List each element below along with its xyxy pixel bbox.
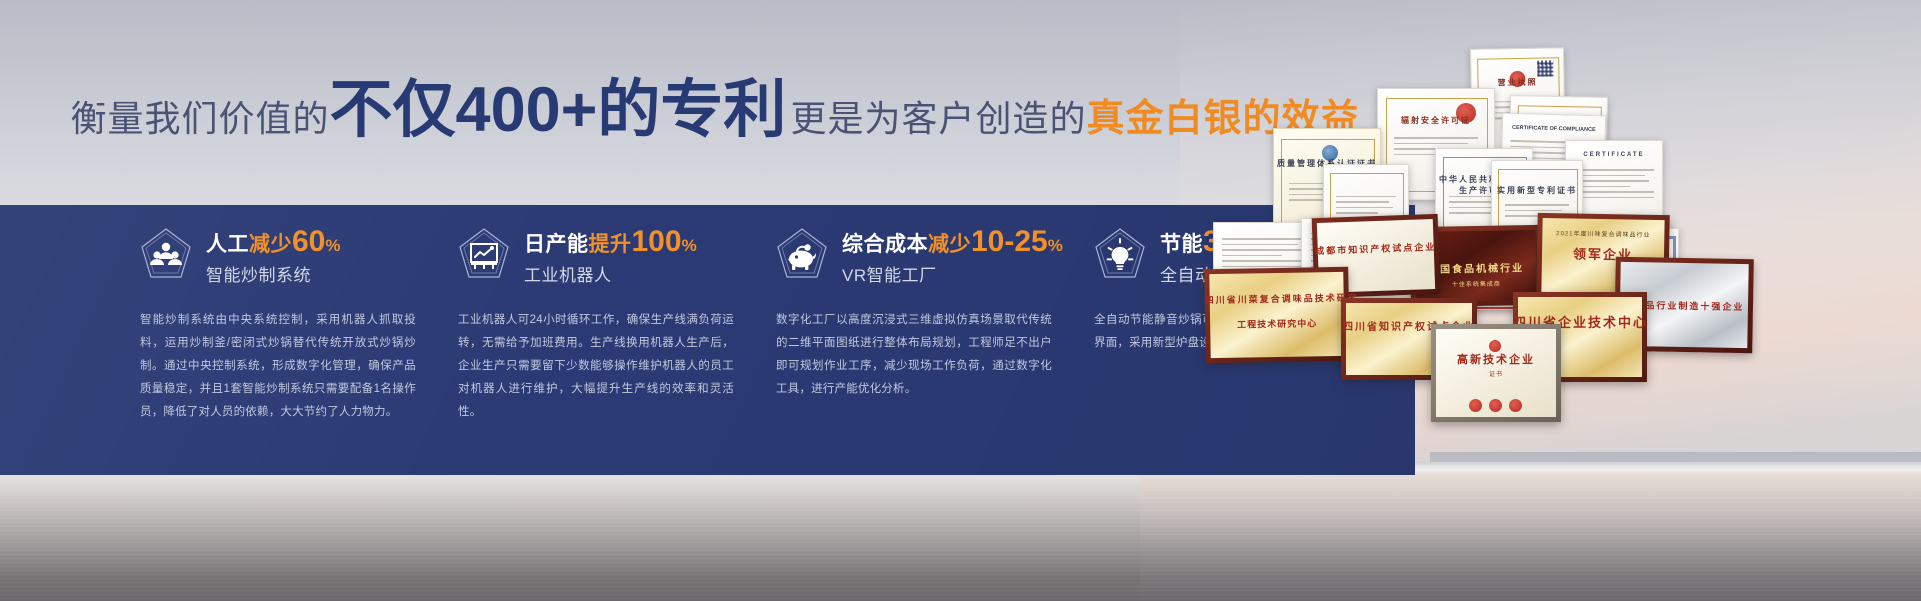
feature-stat-unit-2: % bbox=[682, 236, 697, 255]
certificate-title: 实用新型专利证书 bbox=[1492, 185, 1582, 196]
feature-stat-label-1: 人工 bbox=[206, 233, 249, 256]
feature-stat-unit-3: % bbox=[1048, 236, 1063, 255]
feature-stat-verb-3: 减少 bbox=[928, 233, 971, 256]
certificate-title: 辐射安全许可证 bbox=[1378, 115, 1494, 126]
features-panel: 人工减少60% 智能炒制系统 智能炒制系统由中央系统控制，采用机器人抓取投料，运… bbox=[0, 205, 1415, 475]
feature-stat-1: 人工减少60% bbox=[206, 227, 341, 257]
feature-stat-number-2: 100 bbox=[632, 225, 682, 258]
certificate-title: CERTIFICATE OF COMPLIANCE bbox=[1503, 125, 1605, 134]
plaque-title: 四川省川菜复合调味品技术研究 bbox=[1205, 291, 1349, 307]
feature-subtitle-3: VR智能工厂 bbox=[842, 267, 1063, 284]
feature-body-3: 数字化工厂以高度沉浸式三维虚拟仿真场景取代传统的二维平面图纸进行整体布局规划，工… bbox=[776, 309, 1052, 401]
plaque-subtitle: 工程技术研究中心 bbox=[1205, 316, 1349, 332]
feature-head-text-2: 日产能提升100% 工业机器人 bbox=[524, 225, 697, 284]
feature-header-3: 综合成本减少10-25% VR智能工厂 bbox=[776, 205, 1052, 291]
feature-subtitle-2: 工业机器人 bbox=[524, 267, 697, 284]
plaque-title: 高新技术企业 bbox=[1431, 351, 1561, 367]
feature-stat-verb-2: 提升 bbox=[589, 233, 632, 256]
feature-stat-label-2: 日产能 bbox=[524, 233, 589, 256]
feature-subtitle-1: 智能炒制系统 bbox=[206, 267, 341, 284]
feature-stat-3: 综合成本减少10-25% bbox=[842, 227, 1063, 257]
chart-board-icon bbox=[458, 227, 510, 283]
feature-body-2: 工业机器人可24小时循环工作，确保生产线满负荷运转，无需给予加班费用。生产线换用… bbox=[458, 309, 734, 424]
headline-emphasis: 不仅400+的专利 bbox=[330, 79, 787, 142]
feature-stat-label-4: 节能 bbox=[1160, 233, 1203, 256]
headline-middle: 更是为客户创造的 bbox=[790, 101, 1086, 137]
feature-body-1: 智能炒制系统由中央系统控制，采用机器人抓取投料，运用炒制釜/密闭式炒锅替代传统开… bbox=[140, 309, 416, 424]
banner-stage: 衡量我们价值的 不仅400+的专利 更是为客户创造的 真金白银的效益 bbox=[0, 0, 1921, 601]
feature-stat-number-3: 10-25 bbox=[971, 225, 1048, 258]
feature-item-3[interactable]: 综合成本减少10-25% VR智能工厂 数字化工厂以高度沉浸式三维虚拟仿真场景取… bbox=[776, 205, 1094, 475]
feature-stat-unit-1: % bbox=[325, 236, 340, 255]
people-group-icon bbox=[140, 227, 192, 283]
headline-prefix: 衡量我们价值的 bbox=[71, 101, 330, 137]
feature-stat-number-1: 60 bbox=[292, 225, 325, 258]
feature-stat-label-3: 综合成本 bbox=[842, 233, 928, 256]
feature-head-text-1: 人工减少60% 智能炒制系统 bbox=[206, 225, 341, 284]
feature-head-text-3: 综合成本减少10-25% VR智能工厂 bbox=[842, 225, 1063, 284]
plaque-subtitle: 证书 bbox=[1431, 369, 1561, 378]
feature-header-2: 日产能提升100% 工业机器人 bbox=[458, 205, 734, 291]
piggy-bank-icon bbox=[776, 227, 828, 283]
award-plaque: 四川省川菜复合调味品技术研究 工程技术研究中心 bbox=[1204, 267, 1350, 363]
award-plaque: 高新技术企业 证书 bbox=[1431, 324, 1561, 422]
feature-stat-verb-1: 减少 bbox=[249, 233, 292, 256]
lightbulb-icon bbox=[1094, 227, 1146, 283]
feature-stat-2: 日产能提升100% bbox=[524, 227, 697, 257]
feature-item-1[interactable]: 人工减少60% 智能炒制系统 智能炒制系统由中央系统控制，采用机器人抓取投料，运… bbox=[140, 205, 458, 475]
feature-item-2[interactable]: 日产能提升100% 工业机器人 工业机器人可24小时循环工作，确保生产线满负荷运… bbox=[458, 205, 776, 475]
certificate-stack: 营业执照 辐射安全许可证 CERTIFICATE OF COMPLIANCE 质… bbox=[1205, 40, 1921, 510]
plaque-plate bbox=[1209, 272, 1344, 358]
certificate-title: CERTIFICATE bbox=[1566, 152, 1662, 158]
feature-header-1: 人工减少60% 智能炒制系统 bbox=[140, 205, 416, 291]
